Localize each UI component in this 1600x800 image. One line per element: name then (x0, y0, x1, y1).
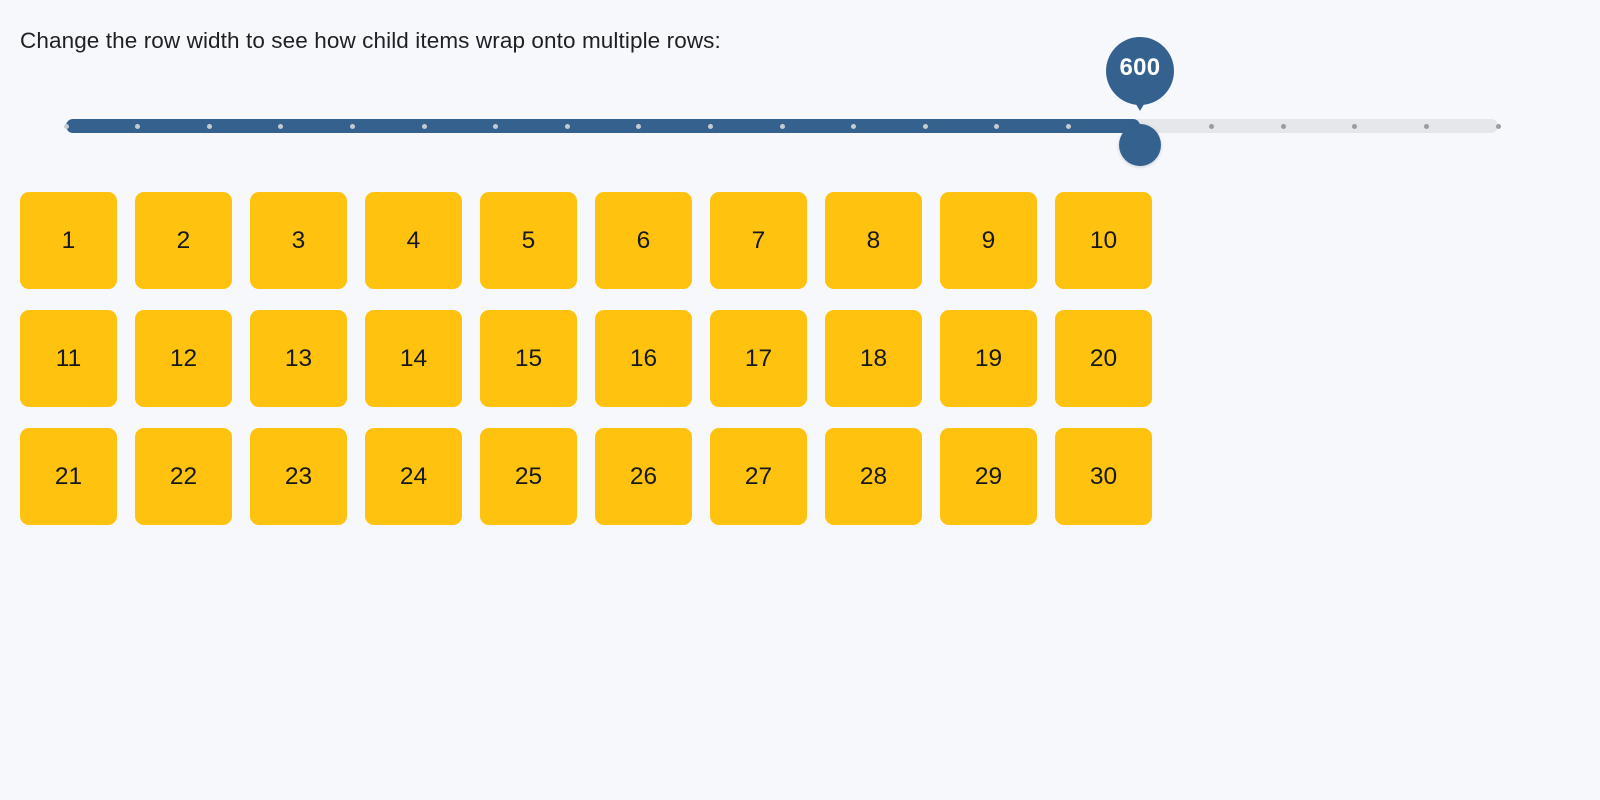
flex-item: 10 (1055, 192, 1152, 289)
flex-item: 11 (20, 310, 117, 407)
wrapping-flex-row: 1234567891011121314151617181920212223242… (20, 192, 1152, 525)
tooltip-tail-icon (1127, 89, 1153, 111)
row-width-slider[interactable]: 600 (66, 119, 1498, 133)
page-instruction-text: Change the row width to see how child it… (20, 24, 1580, 58)
slider-tick-dot (1424, 124, 1429, 129)
flex-item: 17 (710, 310, 807, 407)
flex-item: 29 (940, 428, 1037, 525)
slider-tick-dot (64, 124, 69, 129)
flex-item: 18 (825, 310, 922, 407)
slider-tick-dot (923, 124, 928, 129)
flex-item: 30 (1055, 428, 1152, 525)
flex-item: 26 (595, 428, 692, 525)
flex-item: 3 (250, 192, 347, 289)
flex-item: 4 (365, 192, 462, 289)
flex-item: 24 (365, 428, 462, 525)
flex-item: 12 (135, 310, 232, 407)
flex-item: 23 (250, 428, 347, 525)
flex-item: 2 (135, 192, 232, 289)
flex-item: 19 (940, 310, 1037, 407)
flex-item: 9 (940, 192, 1037, 289)
slider-tick-dot (350, 124, 355, 129)
flex-item: 15 (480, 310, 577, 407)
slider-tick-dot (565, 124, 570, 129)
flex-item: 16 (595, 310, 692, 407)
slider-tick-dot (1066, 124, 1071, 129)
prompt-row: Change the row width to see how child it… (20, 24, 1580, 62)
slider-region: 600 (0, 100, 1600, 155)
flex-item: 6 (595, 192, 692, 289)
slider-tick-dot (207, 124, 212, 129)
flex-item: 28 (825, 428, 922, 525)
slider-thumb[interactable] (1119, 124, 1161, 166)
slider-tick-dot (780, 124, 785, 129)
slider-tick-dot (1496, 124, 1501, 129)
slider-tick-dot (422, 124, 427, 129)
flex-item: 5 (480, 192, 577, 289)
flex-item: 25 (480, 428, 577, 525)
flex-item: 21 (20, 428, 117, 525)
slider-tick-dot (1281, 124, 1286, 129)
flex-item: 20 (1055, 310, 1152, 407)
flex-item: 7 (710, 192, 807, 289)
flex-item: 1 (20, 192, 117, 289)
slider-tick-dot (708, 124, 713, 129)
flex-item: 27 (710, 428, 807, 525)
slider-track-fill (66, 119, 1140, 133)
flex-item: 8 (825, 192, 922, 289)
flex-item: 13 (250, 310, 347, 407)
flex-item: 14 (365, 310, 462, 407)
flex-item: 22 (135, 428, 232, 525)
